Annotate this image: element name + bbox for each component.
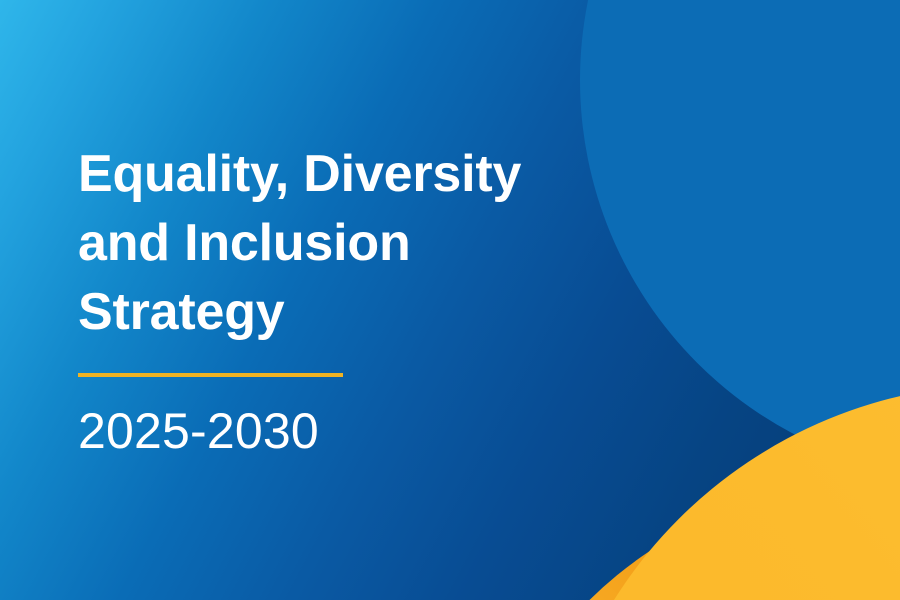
gold-rule-divider (78, 373, 343, 377)
page-title: Equality, Diversity and Inclusion Strate… (78, 140, 521, 347)
cover-subtitle-years: 2025-2030 (78, 402, 319, 460)
cover-content: Equality, Diversity and Inclusion Strate… (78, 0, 598, 600)
blue-circle-shape (580, 0, 900, 480)
cover-banner: Equality, Diversity and Inclusion Strate… (0, 0, 900, 600)
